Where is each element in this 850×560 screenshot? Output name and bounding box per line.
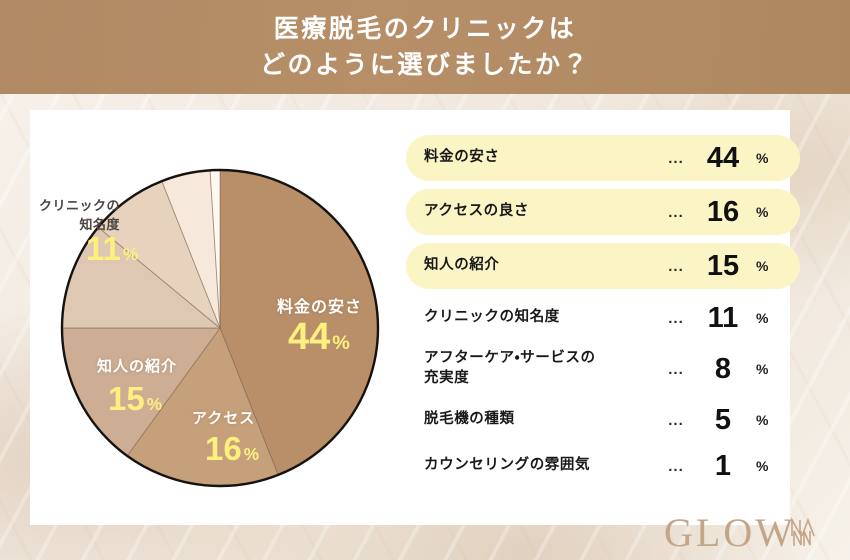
legend-row-label: カウンセリングの雰囲気 <box>424 456 656 476</box>
legend-row-label: アフターケア・サービスの充実度 <box>424 349 656 388</box>
legend-row-value: 8 <box>696 355 750 384</box>
legend-row-label-line: アクセスの良さ <box>424 202 656 222</box>
legend-row-label-line: 脱毛機の種類 <box>424 410 656 430</box>
legend-row-dots: ... <box>656 150 696 167</box>
legend-row-label-line: カウンセリングの雰囲気 <box>424 456 656 476</box>
legend-row: 知人の紹介...15% <box>406 243 800 289</box>
infographic-root: 医療脱毛のクリニックは どのように選びましたか？ 料金の安さ 44% アクセス … <box>0 0 850 560</box>
legend-row-label-line: 料金の安さ <box>424 148 656 168</box>
legend-row-label-line: クリニックの知名度 <box>424 308 656 328</box>
legend-row-dots: ... <box>656 204 696 221</box>
page-title-line-2: どのように選びましたか？ <box>260 47 590 83</box>
legend-row: 脱毛機の種類...5% <box>406 399 800 441</box>
legend-row-dots: ... <box>656 412 696 429</box>
pie-chart-area: 料金の安さ 44% アクセス 16% 知人の紹介 15% クリニックの 知名度 … <box>30 110 410 525</box>
legend-row-value: 1 <box>696 452 750 481</box>
legend-row-percent-symbol: % <box>750 310 786 326</box>
legend-list: 料金の安さ...44%アクセスの良さ...16%知人の紹介...15%クリニック… <box>406 135 800 491</box>
legend-row-dots: ... <box>656 310 696 327</box>
legend-row-dots: ... <box>656 361 696 378</box>
legend-row-percent-symbol: % <box>750 361 786 377</box>
legend-row-value: 5 <box>696 406 750 435</box>
pie-slice-label-awareness: クリニックの 知名度 <box>8 197 120 235</box>
legend-row-percent-symbol: % <box>750 412 786 428</box>
page-title-line-1: 医療脱毛のクリニックは <box>274 11 577 47</box>
legend-row-label: アクセスの良さ <box>424 202 656 222</box>
legend-row-label: 知人の紹介 <box>424 256 656 276</box>
header-bar: 医療脱毛のクリニックは どのように選びましたか？ <box>0 0 850 94</box>
legend-row: クリニックの知名度...11% <box>406 297 800 339</box>
legend-row-percent-symbol: % <box>750 150 786 166</box>
legend-row: 料金の安さ...44% <box>406 135 800 181</box>
legend-row-dots: ... <box>656 258 696 275</box>
legend-row-value: 11 <box>696 304 750 333</box>
brand-logo: GLOW <box>664 512 828 552</box>
legend-row-label-line: アフターケア・サービスの <box>424 349 656 369</box>
legend-row: アクセスの良さ...16% <box>406 189 800 235</box>
brand-monogram-icon <box>788 512 828 552</box>
legend-row-percent-symbol: % <box>750 458 786 474</box>
legend-row: アフターケア・サービスの充実度...8% <box>406 343 800 395</box>
legend-row-label-line: 充実度 <box>424 369 656 389</box>
legend-row-value: 16 <box>696 198 750 227</box>
pie-slice-label-awareness-line-1: クリニックの <box>8 197 120 216</box>
legend-row-dots: ... <box>656 458 696 475</box>
legend-row-label: 脱毛機の種類 <box>424 410 656 430</box>
legend-row-label-line: 知人の紹介 <box>424 256 656 276</box>
legend-row-percent-symbol: % <box>750 258 786 274</box>
legend-row-value: 44 <box>696 144 750 173</box>
legend-row-percent-symbol: % <box>750 204 786 220</box>
legend-row: カウンセリングの雰囲気...1% <box>406 445 800 487</box>
legend-row-label: 料金の安さ <box>424 148 656 168</box>
pie-slice-label-awareness-line-2: 知名度 <box>8 216 120 235</box>
brand-wordmark: GLOW <box>664 514 796 552</box>
legend-row-label: クリニックの知名度 <box>424 308 656 328</box>
legend-row-value: 15 <box>696 252 750 281</box>
